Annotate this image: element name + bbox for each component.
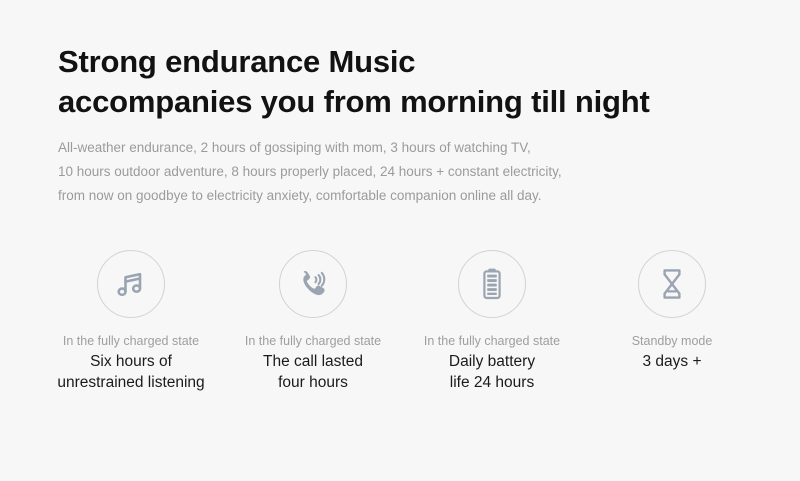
feature-list: In the fully charged state Six hours of … — [0, 250, 800, 430]
feature-item-listening: In the fully charged state Six hours of … — [31, 250, 231, 393]
paragraph-line-2: 10 hours outdoor adventure, 8 hours prop… — [58, 160, 758, 184]
phone-call-icon — [296, 267, 330, 301]
feature-item-battery: In the fully charged state Daily battery… — [392, 250, 592, 393]
battery-icon — [475, 266, 509, 302]
feature-title: 3 days + — [572, 351, 772, 372]
feature-title-line-2: unrestrained listening — [31, 372, 231, 393]
feature-title-line-2: life 24 hours — [392, 372, 592, 393]
feature-caption: In the fully charged state — [392, 333, 592, 349]
feature-title: Daily battery life 24 hours — [392, 351, 592, 393]
feature-caption: Standby mode — [572, 333, 772, 349]
headline-line-2: accompanies you from morning till night — [58, 82, 758, 122]
feature-title-line-1: The call lasted — [213, 351, 413, 372]
feature-title-line-1: Daily battery — [392, 351, 592, 372]
feature-icon-circle — [97, 250, 165, 318]
paragraph-line-1: All-weather endurance, 2 hours of gossip… — [58, 136, 758, 160]
hourglass-icon — [655, 266, 689, 302]
feature-title-line-2: four hours — [213, 372, 413, 393]
feature-icon-circle — [458, 250, 526, 318]
feature-icon-circle — [638, 250, 706, 318]
feature-item-call: In the fully charged state The call last… — [213, 250, 413, 393]
music-note-icon — [114, 267, 148, 301]
feature-icon-circle — [279, 250, 347, 318]
promo-banner: Strong endurance Music accompanies you f… — [0, 0, 800, 481]
feature-caption: In the fully charged state — [31, 333, 231, 349]
feature-title-line-1: Six hours of — [31, 351, 231, 372]
headline-line-1: Strong endurance Music — [58, 42, 758, 82]
feature-title: The call lasted four hours — [213, 351, 413, 393]
feature-caption: In the fully charged state — [213, 333, 413, 349]
description-paragraph: All-weather endurance, 2 hours of gossip… — [58, 136, 758, 208]
feature-title-line-1: 3 days + — [572, 351, 772, 372]
feature-title: Six hours of unrestrained listening — [31, 351, 231, 393]
feature-item-standby: Standby mode 3 days + — [572, 250, 772, 372]
paragraph-line-3: from now on goodbye to electricity anxie… — [58, 184, 758, 208]
page-title: Strong endurance Music accompanies you f… — [58, 42, 758, 122]
